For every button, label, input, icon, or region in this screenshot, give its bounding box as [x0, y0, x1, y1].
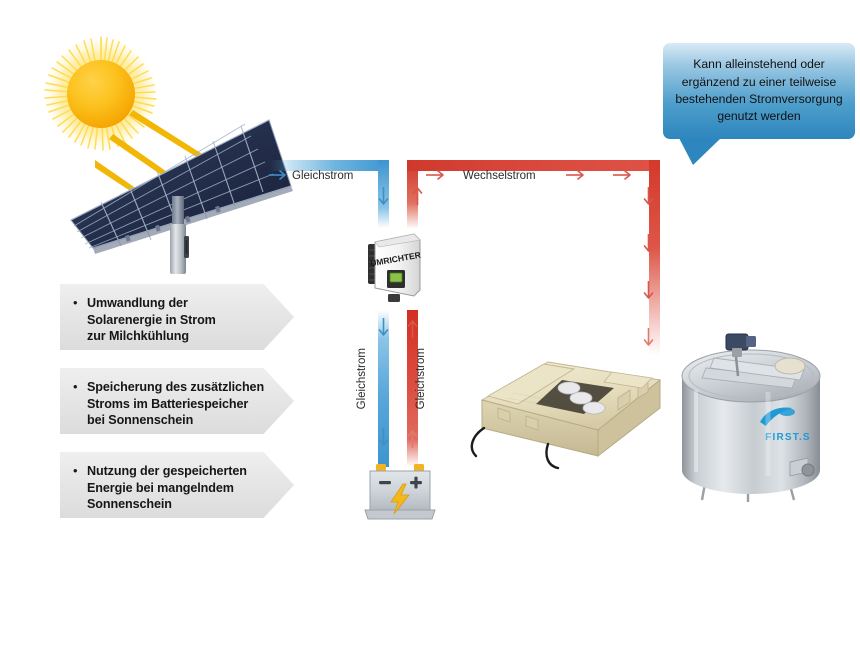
label-dc-down: Gleichstrom [356, 348, 370, 409]
bullet-1-line-3: zur Milchkühlung [87, 328, 216, 345]
arrow-up-dc-1 [405, 317, 420, 339]
arrow-down-dc-3 [376, 427, 391, 449]
callout-bubble: Kann alleinstehend oder ergänzend zu ein… [663, 43, 855, 139]
bullet-marker-1: • [70, 295, 87, 312]
arrow-up-ac-1 [410, 184, 425, 206]
callout-text: Kann alleinstehend oder ergänzend zu ein… [671, 56, 847, 125]
milk-tank-logo-text: FIRST.S [765, 432, 811, 443]
bullet-1-line-1: Umwandlung der [87, 295, 216, 312]
bullet-marker-2: • [70, 379, 87, 396]
bullet-box-2: • Speicherung des zusätzlichen Stroms im… [60, 368, 294, 434]
mount-pole-icon [160, 196, 200, 276]
bullet-2-line-2: Stroms im Batteriespeicher [87, 396, 264, 413]
bullet-3-line-3: Sonnenschein [87, 496, 247, 513]
arrow-down-ac-4 [641, 327, 656, 349]
callout-tail-icon [679, 138, 721, 165]
label-dc-top: Gleichstrom [292, 170, 353, 182]
battery-icon [362, 462, 438, 524]
label-ac-top: Wechselstrom [463, 170, 536, 182]
milk-tank-icon: FIRST.S [668, 330, 834, 510]
arrow-down-dc-1 [376, 186, 391, 208]
arrow-down-ac-2 [641, 233, 656, 255]
bullet-marker-3: • [70, 463, 87, 480]
diagram-canvas: Gleichstrom Wechselstrom Gleichstrom Gle… [0, 0, 860, 645]
bullet-2-line-1: Speicherung des zusätzlichen [87, 379, 264, 396]
bullet-2-line-3: bei Sonnenschein [87, 412, 264, 429]
ice-bank-cooling-unit-graphic [452, 352, 674, 478]
arrow-right-ac-3 [612, 168, 636, 182]
bullet-1-line-2: Solarenergie in Strom [87, 312, 216, 329]
label-dc-up: Gleichstrom [415, 348, 429, 409]
inverter-graphic: UMRICHTER [366, 228, 422, 304]
milk-cooling-tank-graphic: FIRST.S [668, 330, 834, 510]
bullet-3-line-1: Nutzung der gespeicherten [87, 463, 247, 480]
arrow-down-ac-3 [641, 280, 656, 302]
arrow-up-dc-2 [405, 427, 420, 449]
arrow-right-dc-1 [268, 168, 290, 182]
inverter-icon: UMRICHTER [366, 228, 422, 304]
battery-storage-graphic [362, 462, 438, 524]
bullet-box-3: • Nutzung der gespeicherten Energie bei … [60, 452, 294, 518]
bullet-3-line-2: Energie bei mangelndem [87, 480, 247, 497]
arrow-right-ac-2 [565, 168, 589, 182]
arrow-down-ac-1 [641, 186, 656, 208]
solar-panel-mount-pole [160, 196, 200, 276]
bullet-box-1: • Umwandlung der Solarenergie in Strom z… [60, 284, 294, 350]
arrow-right-ac-1 [425, 168, 449, 182]
arrow-down-dc-2 [376, 317, 391, 339]
ice-bank-icon [452, 352, 674, 478]
